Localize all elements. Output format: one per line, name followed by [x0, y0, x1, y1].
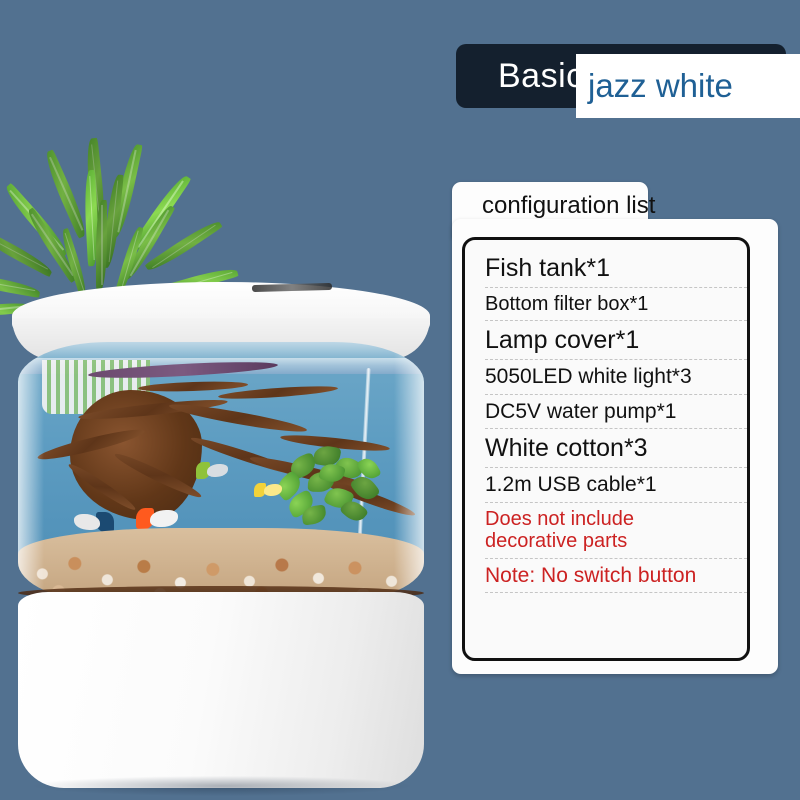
green-guppy	[196, 464, 228, 477]
configuration-list-inner-box: Fish tank*1Bottom filter box*1Lamp cover…	[462, 237, 750, 661]
variant-label: jazz white	[588, 67, 733, 105]
glass-left-highlight	[18, 342, 44, 602]
blue-teal-guppy	[74, 514, 114, 530]
product-image-canvas: Basic jazz white configuration list Fish…	[0, 0, 800, 800]
spec-item: 1.2m USB cable*1	[485, 473, 747, 503]
product-shadow	[34, 776, 410, 796]
fish-body	[74, 514, 100, 530]
spec-item: Fish tank*1	[485, 254, 747, 288]
driftwood-branch	[138, 380, 248, 393]
aquarium-product-photo	[0, 130, 440, 700]
spec-item: 5050LED white light*3	[485, 365, 747, 395]
fish-body	[207, 464, 228, 477]
spec-item: Bottom filter box*1	[485, 293, 747, 321]
spec-item: Lamp cover*1	[485, 326, 747, 360]
tank-glass	[18, 342, 424, 602]
spec-item: White cotton*3	[485, 434, 747, 468]
spec-list: Fish tank*1Bottom filter box*1Lamp cover…	[465, 254, 747, 593]
plant-leaf	[0, 273, 41, 298]
configuration-list-title: configuration list	[482, 192, 655, 220]
spec-item: Does not include decorative parts	[485, 508, 747, 559]
plant-leaf	[96, 200, 107, 290]
tank-base	[18, 592, 424, 788]
fish-body	[264, 484, 282, 496]
banner-title: Basic	[498, 57, 584, 96]
glass-right-highlight	[394, 342, 424, 602]
variant-chip[interactable]: jazz white	[576, 54, 800, 118]
yellow-guppy	[254, 484, 282, 496]
submerged-plant	[268, 440, 380, 540]
spec-item: DC5V water pump*1	[485, 400, 747, 430]
fish-body	[150, 510, 178, 527]
orange-white-guppy	[136, 510, 178, 527]
spec-item: Note: No switch button	[485, 564, 747, 594]
